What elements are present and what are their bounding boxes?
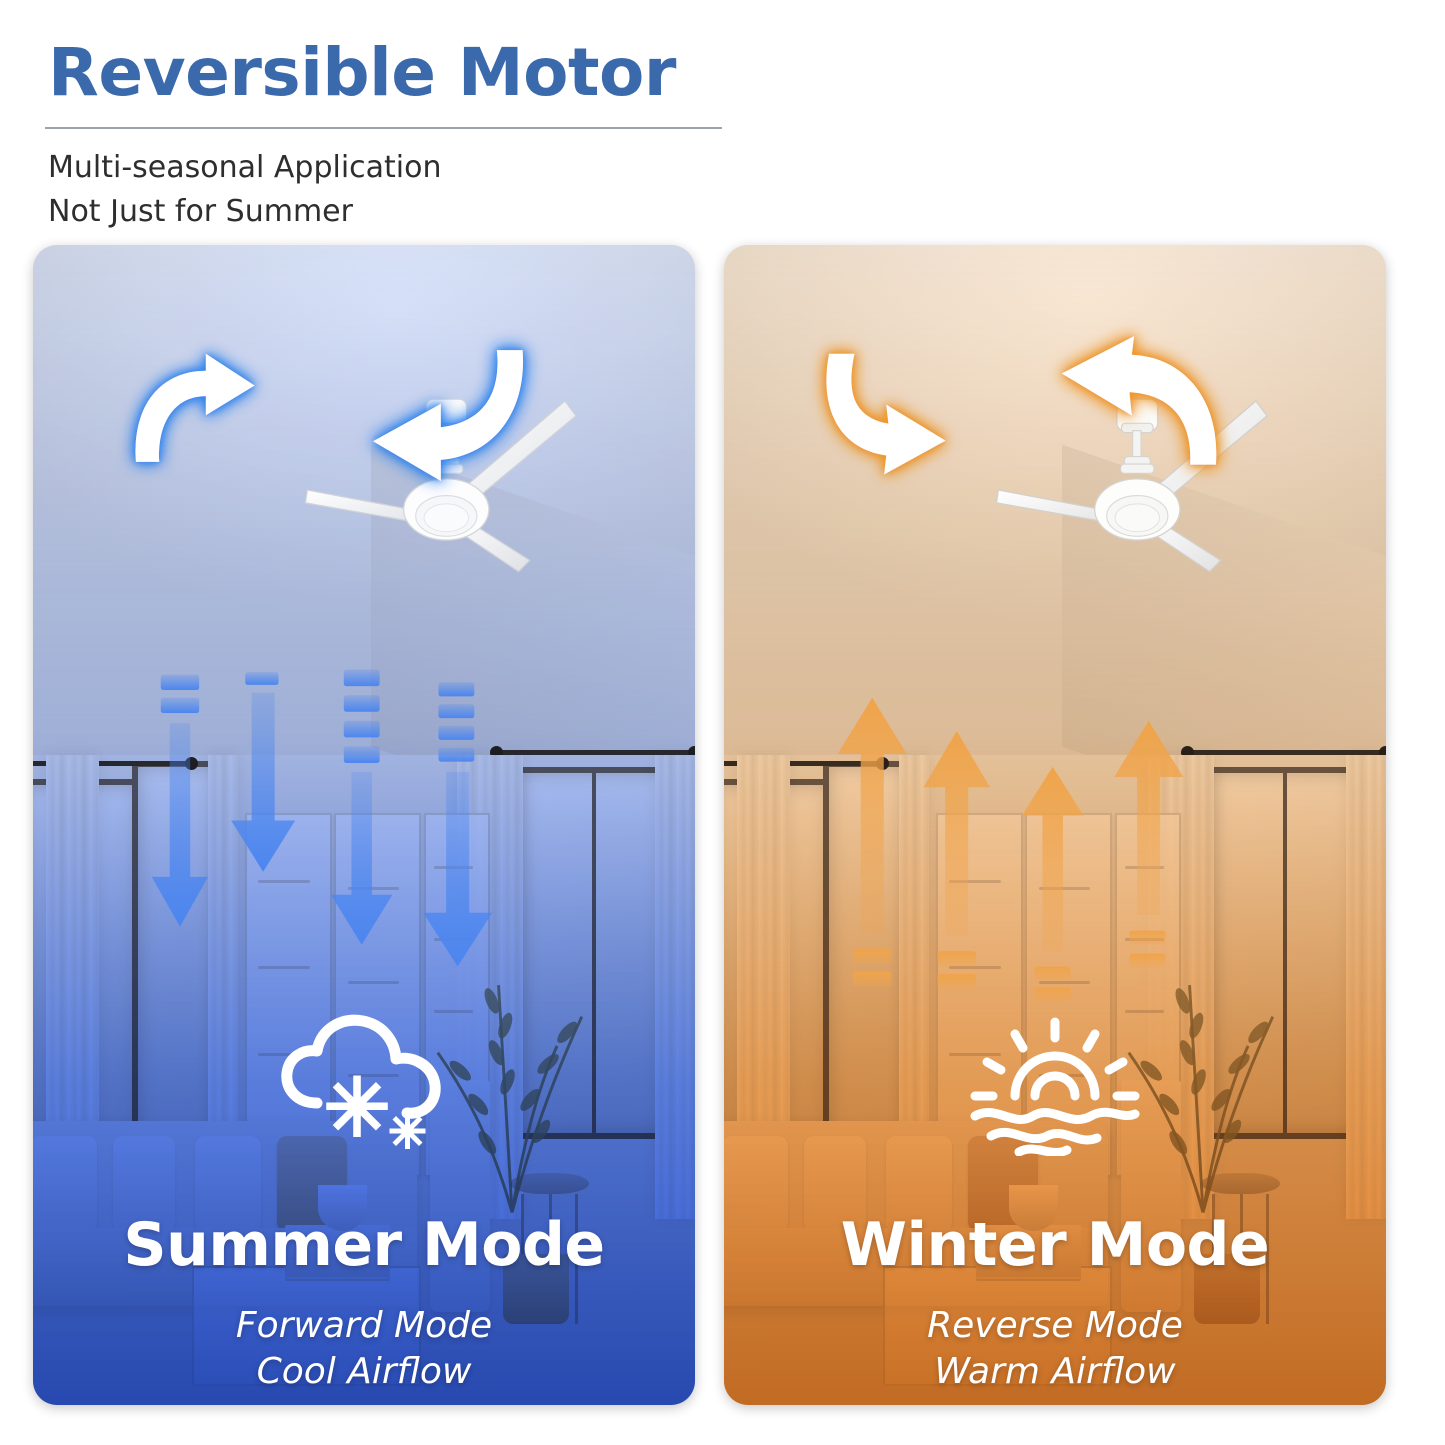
panel-winter-mode: Winter Mode Reverse Mode Warm Airflow [724, 245, 1386, 1405]
winter-mode-title: Winter Mode [724, 1210, 1386, 1280]
sunrise-icon [969, 1016, 1141, 1156]
summer-mode-title: Summer Mode [33, 1210, 695, 1280]
rotation-arrow-right-winter[interactable] [1029, 303, 1228, 523]
rotation-arrow-left-summer[interactable] [119, 315, 278, 501]
winter-mode-subtitle: Reverse Mode Warm Airflow [724, 1303, 1386, 1395]
title-divider [45, 127, 722, 129]
rotation-arrow-right-summer[interactable] [338, 303, 537, 523]
page-subtitle: Multi-seasonal Application Not Just for … [48, 146, 442, 233]
panel-summer-mode: Summer Mode Forward Mode Cool Airflow [33, 245, 695, 1405]
page-title: Reversible Motor [48, 38, 676, 107]
header: Reversible Motor Multi-seasonal Applicat… [0, 0, 1445, 232]
summer-mode-subtitle: Forward Mode Cool Airflow [33, 1303, 695, 1395]
cloud-snow-icon [269, 1005, 459, 1165]
rotation-arrow-left-winter[interactable] [810, 315, 969, 501]
